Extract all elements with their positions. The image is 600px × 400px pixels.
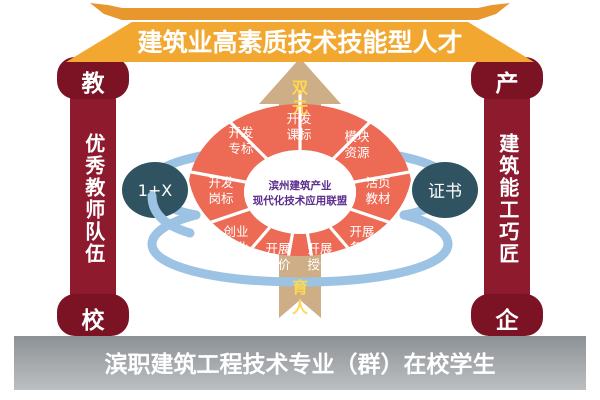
footer-banner-layer: 滨职建筑工程技术专业（群）在校学生 bbox=[0, 0, 600, 400]
footer-banner: 滨职建筑工程技术专业（群）在校学生 bbox=[14, 336, 586, 390]
infographic-canvas: 开发 岗标 开发 专标 开发 课标 模块 资源 活页 教材 bbox=[0, 0, 600, 400]
footer-title: 滨职建筑工程技术专业（群）在校学生 bbox=[105, 351, 496, 378]
